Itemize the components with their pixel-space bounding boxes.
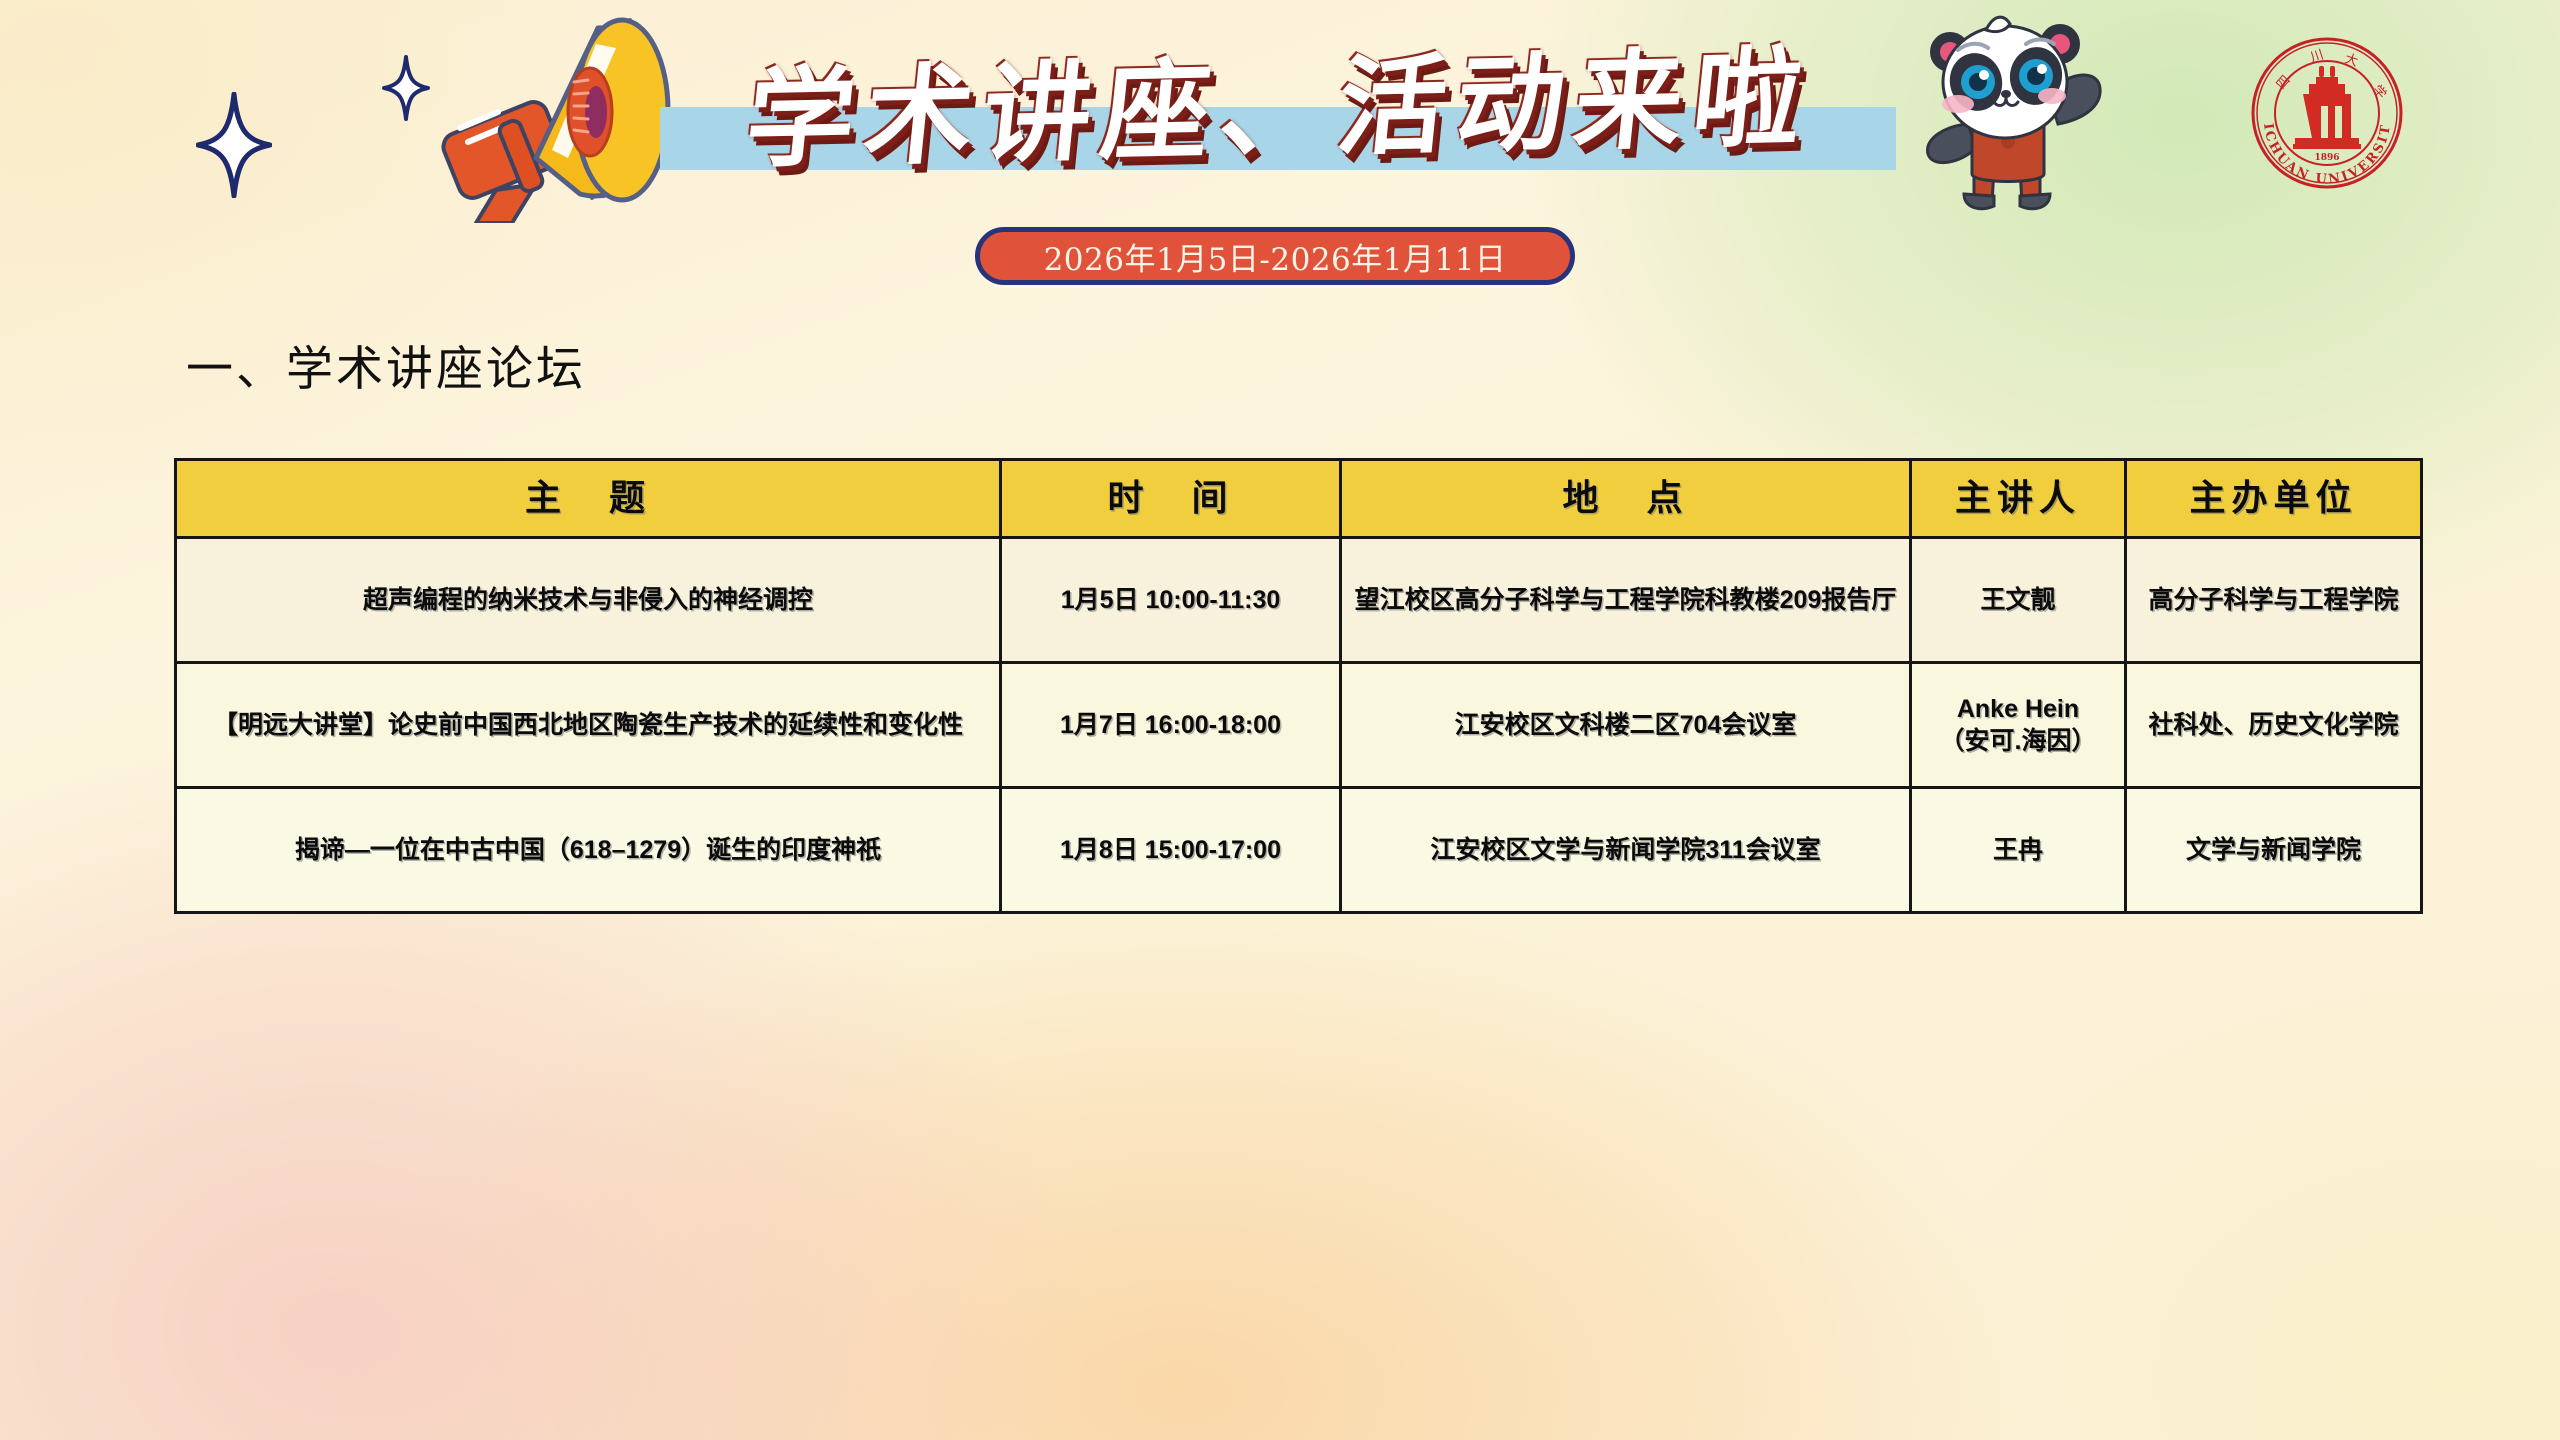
schedule-table: 主 题 时 间 地 点 主讲人 主办单位 超声编程的纳米技术与非侵入的神经调控 … [174, 458, 2423, 914]
cell-time: 1月8日 15:00-17:00 [1001, 788, 1341, 913]
date-range-label: 2026年1月5日-2026年1月11日 [975, 227, 1575, 285]
table-row: 【明远大讲堂】论史前中国西北地区陶瓷生产技术的延续性和变化性 1月7日 16:0… [176, 663, 2422, 788]
cell-topic: 超声编程的纳米技术与非侵入的神经调控 [176, 538, 1001, 663]
svg-text:学: 学 [2369, 82, 2390, 102]
sparkle-icon-large [196, 92, 272, 198]
cell-organizer: 社科处、历史文化学院 [2126, 663, 2422, 788]
cell-location: 江安校区文学与新闻学院311会议室 [1341, 788, 1911, 913]
logo-year: 1896 [2314, 153, 2339, 163]
table-row: 揭谛—一位在中古中国（618–1279）诞生的印度神祇 1月8日 15:00-1… [176, 788, 2422, 913]
column-header-organizer: 主办单位 [2126, 460, 2422, 538]
sichuan-university-logo: 1896 四 川 大 学 SICHUAN UNIVERSITY [2248, 34, 2406, 192]
cell-time: 1月7日 16:00-18:00 [1001, 663, 1341, 788]
panda-mascot-icon [1902, 8, 2117, 218]
table-header-row: 主 题 时 间 地 点 主讲人 主办单位 [176, 460, 2422, 538]
cell-speaker: 王文靓 [1911, 538, 2126, 663]
date-range-badge: 2026年1月5日-2026年1月11日 [975, 227, 1575, 285]
column-header-topic: 主 题 [176, 460, 1001, 538]
table-body: 超声编程的纳米技术与非侵入的神经调控 1月5日 10:00-11:30 望江校区… [176, 538, 2422, 913]
column-header-speaker: 主讲人 [1911, 460, 2126, 538]
svg-text:大: 大 [2343, 52, 2360, 70]
cell-time: 1月5日 10:00-11:30 [1001, 538, 1341, 663]
cell-topic: 【明远大讲堂】论史前中国西北地区陶瓷生产技术的延续性和变化性 [176, 663, 1001, 788]
poster-canvas: 学术讲座、活动来啦 2026年1月5日-2026年1月11日 [0, 0, 2560, 1440]
cell-speaker: Anke Hein（安可.海因） [1911, 663, 2126, 788]
column-header-location: 地 点 [1341, 460, 1911, 538]
cell-topic: 揭谛—一位在中古中国（618–1279）诞生的印度神祇 [176, 788, 1001, 913]
cell-organizer: 文学与新闻学院 [2126, 788, 2422, 913]
table-row: 超声编程的纳米技术与非侵入的神经调控 1月5日 10:00-11:30 望江校区… [176, 538, 2422, 663]
column-header-time: 时 间 [1001, 460, 1341, 538]
cell-location: 江安校区文科楼二区704会议室 [1341, 663, 1911, 788]
cell-speaker: 王冉 [1911, 788, 2126, 913]
cell-location: 望江校区高分子科学与工程学院科教楼209报告厅 [1341, 538, 1911, 663]
section-heading: 一、学术讲座论坛 [186, 330, 586, 399]
cell-organizer: 高分子科学与工程学院 [2126, 538, 2422, 663]
page-title: 学术讲座、活动来啦 [647, 19, 1914, 180]
